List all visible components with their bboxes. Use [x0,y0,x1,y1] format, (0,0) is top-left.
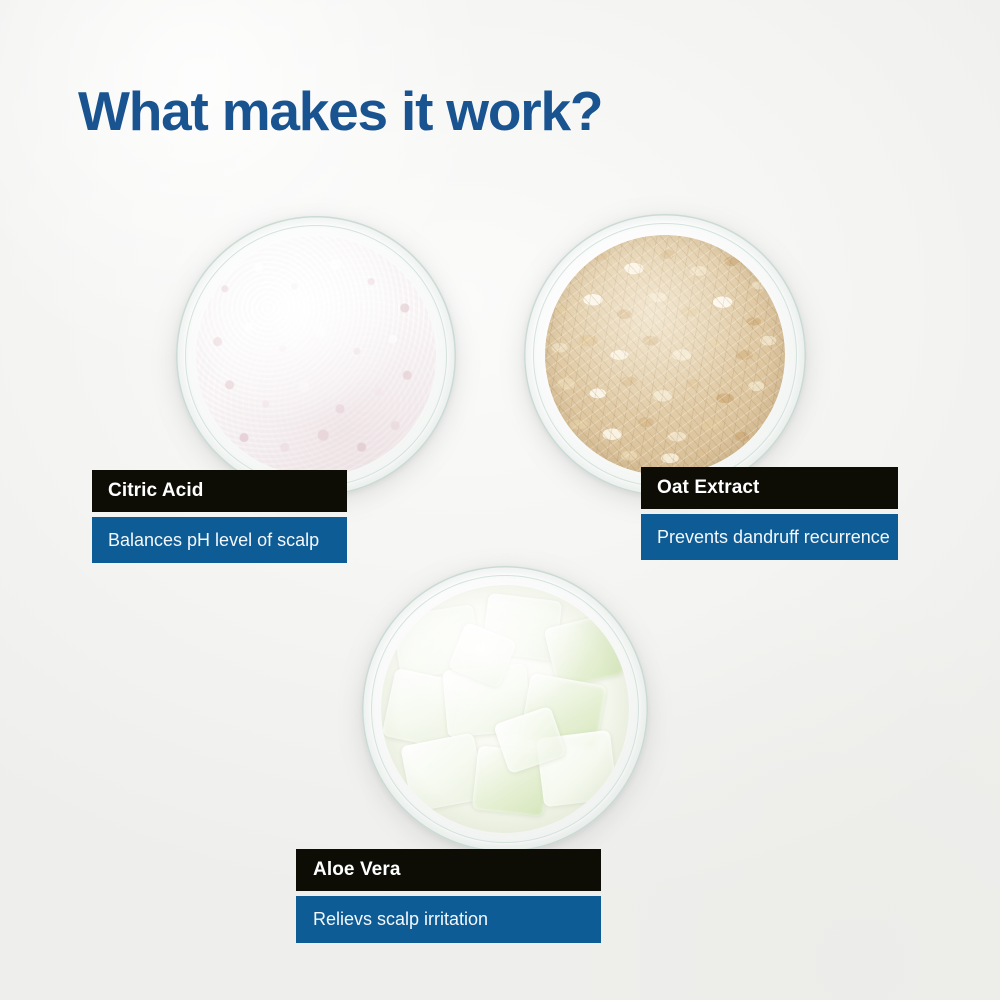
ingredient-benefit-citric-acid: Balances pH level of scalp [92,517,347,563]
page-title: What makes it work? [78,79,602,143]
aloe-vera-substance [381,585,629,833]
caption-aloe-vera: Aloe Vera Relievs scalp irritation [296,849,601,943]
ingredient-benefit-aloe-vera: Relievs scalp irritation [296,896,601,943]
caption-citric-acid: Citric Acid Balances pH level of scalp [92,470,347,563]
oat-extract-substance [545,235,785,475]
petri-dish-oat-extract [524,214,806,496]
ingredient-infographic-poster: What makes it work? [0,0,1000,1000]
aloe-sheen [381,585,629,833]
petri-dish-aloe-vera [362,566,648,852]
ingredient-benefit-oat-extract: Prevents dandruff recurrence [641,514,898,560]
ingredient-name-aloe-vera: Aloe Vera [296,849,601,891]
ingredient-name-citric-acid: Citric Acid [92,470,347,512]
oat-shading [545,235,785,475]
citric-acid-shading [196,236,436,476]
petri-dish-citric-acid [176,216,456,496]
ingredient-name-oat-extract: Oat Extract [641,467,898,509]
caption-oat-extract: Oat Extract Prevents dandruff recurrence [641,467,898,560]
citric-acid-substance [196,236,436,476]
